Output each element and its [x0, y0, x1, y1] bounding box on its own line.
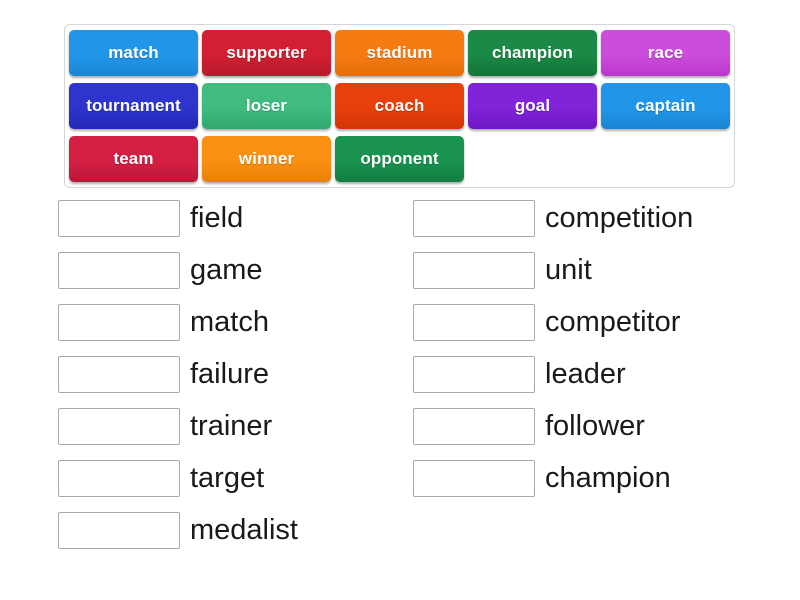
- word-tile[interactable]: supporter: [202, 30, 331, 76]
- word-tile-bank: matchsupporterstadiumchampionracetournam…: [64, 24, 735, 188]
- answer-label: medalist: [190, 512, 298, 549]
- drop-box[interactable]: [58, 304, 180, 341]
- answer-label: competitor: [545, 304, 680, 341]
- answer-column-right: competitionunitcompetitorleaderfollowerc…: [413, 200, 693, 512]
- answer-row: target: [58, 460, 298, 497]
- answer-row: follower: [413, 408, 693, 445]
- answer-row: match: [58, 304, 298, 341]
- answer-label: leader: [545, 356, 626, 393]
- word-tile[interactable]: goal: [468, 83, 597, 129]
- tile-row: matchsupporterstadiumchampionrace: [69, 30, 730, 78]
- answer-label: match: [190, 304, 269, 341]
- answer-label: game: [190, 252, 263, 289]
- answer-label: failure: [190, 356, 269, 393]
- word-tile[interactable]: loser: [202, 83, 331, 129]
- word-tile[interactable]: stadium: [335, 30, 464, 76]
- drop-box[interactable]: [413, 304, 535, 341]
- drop-box[interactable]: [58, 512, 180, 549]
- drop-box[interactable]: [413, 200, 535, 237]
- answer-row: failure: [58, 356, 298, 393]
- answer-column-left: fieldgamematchfailuretrainertargetmedali…: [58, 200, 298, 564]
- drop-box[interactable]: [413, 460, 535, 497]
- drop-box[interactable]: [58, 408, 180, 445]
- word-tile[interactable]: winner: [202, 136, 331, 182]
- answer-row: leader: [413, 356, 693, 393]
- drop-box[interactable]: [413, 252, 535, 289]
- word-tile[interactable]: team: [69, 136, 198, 182]
- answer-row: game: [58, 252, 298, 289]
- word-tile[interactable]: race: [601, 30, 730, 76]
- answer-row: field: [58, 200, 298, 237]
- drop-box[interactable]: [58, 200, 180, 237]
- answer-label: competition: [545, 200, 693, 237]
- answer-row: trainer: [58, 408, 298, 445]
- answer-label: target: [190, 460, 264, 497]
- drop-box[interactable]: [58, 252, 180, 289]
- answer-row: competitor: [413, 304, 693, 341]
- drop-box[interactable]: [58, 460, 180, 497]
- word-tile[interactable]: opponent: [335, 136, 464, 182]
- word-tile[interactable]: coach: [335, 83, 464, 129]
- answer-row: competition: [413, 200, 693, 237]
- answer-label: unit: [545, 252, 592, 289]
- word-tile[interactable]: match: [69, 30, 198, 76]
- drop-box[interactable]: [413, 356, 535, 393]
- word-tile[interactable]: captain: [601, 83, 730, 129]
- answer-row: champion: [413, 460, 693, 497]
- word-tile[interactable]: tournament: [69, 83, 198, 129]
- answer-label: field: [190, 200, 243, 237]
- word-tile[interactable]: champion: [468, 30, 597, 76]
- drop-box[interactable]: [58, 356, 180, 393]
- answer-label: champion: [545, 460, 671, 497]
- tile-row: teamwinneropponent: [69, 136, 730, 184]
- answer-label: follower: [545, 408, 645, 445]
- tile-row: tournamentlosercoachgoalcaptain: [69, 83, 730, 131]
- answer-area: fieldgamematchfailuretrainertargetmedali…: [0, 200, 800, 600]
- answer-label: trainer: [190, 408, 272, 445]
- answer-row: unit: [413, 252, 693, 289]
- drop-box[interactable]: [413, 408, 535, 445]
- answer-row: medalist: [58, 512, 298, 549]
